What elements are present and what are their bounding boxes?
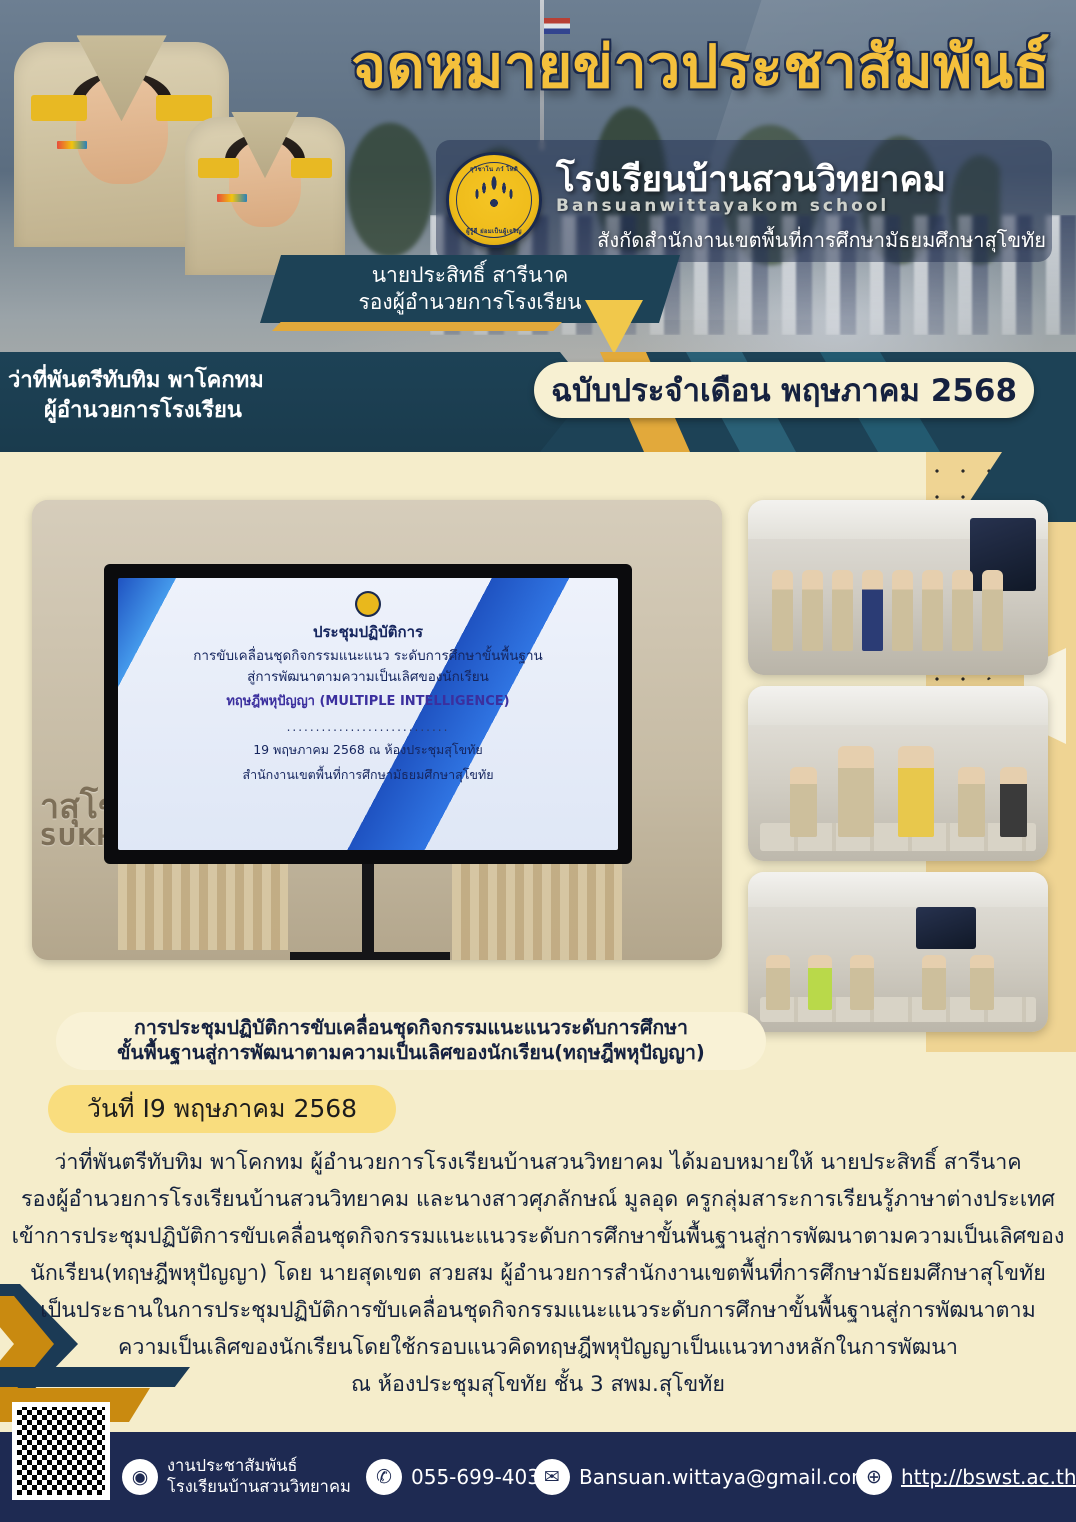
slide-content: ประชุมปฏิบัติการ การขับเคลื่อนชุดกิจกรรม… [148, 589, 588, 839]
article-caption: การประชุมปฏิบัติการขับเคลื่อนชุดกิจกรรมแ… [56, 1012, 766, 1070]
director-name-text: ว่าที่พันตรีทับทิม พาโคกทม [8, 366, 528, 396]
deputy-nameplate-accent-bar [272, 322, 562, 331]
phone-number[interactable]: 055-699-403 [411, 1465, 540, 1489]
portrait-ribbon-badge [57, 141, 87, 149]
newsletter-header: จดหมายข่าวประชาสัมพันธ์ สุวิชาโน ภวํ โหต… [0, 0, 1076, 452]
email-icon: ✉ [534, 1459, 570, 1495]
person-figure [766, 955, 790, 1009]
slide-line-5: 19 พฤษภาคม 2568 ณ ห้องประชุมสุโขทัย [148, 741, 588, 759]
presentation-slide: ประชุมปฏิบัติการ การขับเคลื่อนชุดกิจกรรม… [118, 578, 618, 850]
pr-line-2: โรงเรียนบ้านสวนวิทยาคม [167, 1477, 351, 1498]
contact-footer: ◉ งานประชาสัมพันธ์ โรงเรียนบ้านสวนวิทยาค… [0, 1432, 1076, 1522]
person-figure [922, 570, 943, 651]
body-line: ว่าที่พันตรีทับทิม พาโคกทม ผู้อำนวยการโร… [0, 1145, 1076, 1182]
person-figure [832, 570, 853, 651]
room-ceiling [748, 872, 1048, 907]
date-badge: วันที่ I9 พฤษภาคม 2568 [48, 1085, 396, 1133]
person-figure [922, 955, 946, 1009]
body-line: เป็นประธานในการประชุมปฏิบัติการขับเคลื่อ… [0, 1293, 1076, 1330]
body-line: เข้าการประชุมปฏิบัติการขับเคลื่อนชุดกิจก… [0, 1219, 1076, 1256]
school-name-english: Bansuanwittayakom school [556, 196, 1052, 216]
phone-icon: ✆ [366, 1459, 402, 1495]
page-title: จดหมายข่าวประชาสัมพันธ์ [268, 36, 1068, 98]
tv-stand-base [290, 952, 450, 960]
main-photo-presentation-screen: าสุโขทั SUKHOTH ประชุมปฏิบัติการ การขับเ… [32, 500, 722, 960]
room-screen [970, 518, 1036, 592]
pr-line-1: งานประชาสัมพันธ์ [167, 1456, 351, 1477]
camera-icon: ◉ [122, 1459, 158, 1495]
deputy-position: รองผู้อำนวยการโรงเรียน [358, 289, 581, 316]
slide-line-4: ทฤษฎีพหุปัญญา (MULTIPLE INTELLIGENCE) [148, 690, 588, 711]
body-line: นักเรียน(ทฤษฎีพหุปัญญา) โดย นายสุดเขต สว… [0, 1256, 1076, 1293]
qr-code-pattern [17, 1407, 105, 1495]
footer-pr-office: ◉ งานประชาสัมพันธ์ โรงเรียนบ้านสวนวิทยาค… [122, 1456, 351, 1497]
photo-group-portrait [748, 500, 1048, 675]
person-figure [850, 955, 874, 1009]
person-figure-chairman [862, 570, 883, 651]
director-position: ผู้อำนวยการโรงเรียน [8, 396, 528, 426]
logo-emblem-shape [473, 173, 515, 219]
slide-divider: ............................ [148, 720, 588, 734]
slide-line-6: สำนักงานเขตพื้นที่การศึกษามัธยมศึกษาสุโข… [148, 766, 588, 784]
slide-line-3: สู่การพัฒนาตามความเป็นเลิศของนักเรียน [148, 668, 588, 686]
person-figure [1000, 767, 1027, 837]
email-address[interactable]: Bansuan.wittaya@gmail.com [579, 1465, 871, 1489]
photo-participants-seated [748, 686, 1048, 861]
person-figure [970, 955, 994, 1009]
footer-email[interactable]: ✉ Bansuan.wittaya@gmail.com [534, 1459, 871, 1495]
pr-office-text: งานประชาสัมพันธ์ โรงเรียนบ้านสวนวิทยาคม [167, 1456, 351, 1497]
deputy-portrait [185, 117, 345, 372]
slide-line-2: การขับเคลื่อนชุดกิจกรรมแนะแนว ระดับการศึ… [148, 647, 588, 665]
tv-stand-pole [362, 864, 374, 960]
room-ceiling [748, 686, 1048, 725]
room-projector-screen [916, 907, 976, 949]
person-figure [982, 570, 1003, 651]
person-figure [808, 955, 832, 1009]
person-figure [838, 746, 874, 837]
slide-line-1: ประชุมปฏิบัติการ [148, 620, 588, 644]
deputy-name: นายประสิทธิ์ สารีนาค [372, 262, 569, 289]
body-line: ความเป็นเลิศของนักเรียนโดยใช้กรอบแนวคิดท… [0, 1330, 1076, 1367]
globe-icon: ⊕ [856, 1459, 892, 1495]
person-figure [802, 570, 823, 651]
school-affiliation: สังกัดสำนักงานเขตพื้นที่การศึกษามัธยมศึก… [470, 224, 1052, 256]
slide-logo-icon [355, 591, 381, 617]
footer-phone[interactable]: ✆ 055-699-403 [366, 1459, 540, 1495]
caption-line-2: ขั้นพื้นฐานสู่การพัฒนาตามความเป็นเลิศของ… [117, 1041, 705, 1066]
body-line: ณ ห้องประชุมสุโขทัย ชั้น 3 สพม.สุโขทัย [0, 1367, 1076, 1404]
person-figure [892, 570, 913, 651]
issue-month-badge: ฉบับประจำเดือน พฤษภาคม 2568 [534, 362, 1034, 418]
conference-desks [760, 997, 1036, 1023]
person-figure [958, 767, 985, 837]
person-figure [772, 570, 793, 651]
person-figure [790, 767, 817, 837]
director-nameplate: ว่าที่พันตรีทับทิม พาโคกทม ผู้อำนวยการโร… [8, 366, 528, 425]
qr-code[interactable] [12, 1402, 110, 1500]
footer-website[interactable]: ⊕ http://bswst.ac.th [856, 1459, 1076, 1495]
article-body: ว่าที่พันตรีทับทิม พาโคกทม ผู้อำนวยการโร… [0, 1145, 1076, 1404]
body-line: รองผู้อำนวยการโรงเรียนบ้านสวนวิทยาคม และ… [0, 1182, 1076, 1219]
caption-line-1: การประชุมปฏิบัติการขับเคลื่อนชุดกิจกรรมแ… [134, 1016, 688, 1041]
website-url[interactable]: http://bswst.ac.th [901, 1465, 1076, 1489]
person-figure [952, 570, 973, 651]
photo-conference-room-wide [748, 872, 1048, 1032]
portrait-ribbon-badge [217, 194, 247, 202]
person-figure [898, 746, 934, 837]
television-display: ประชุมปฏิบัติการ การขับเคลื่อนชุดกิจกรรม… [104, 564, 632, 864]
